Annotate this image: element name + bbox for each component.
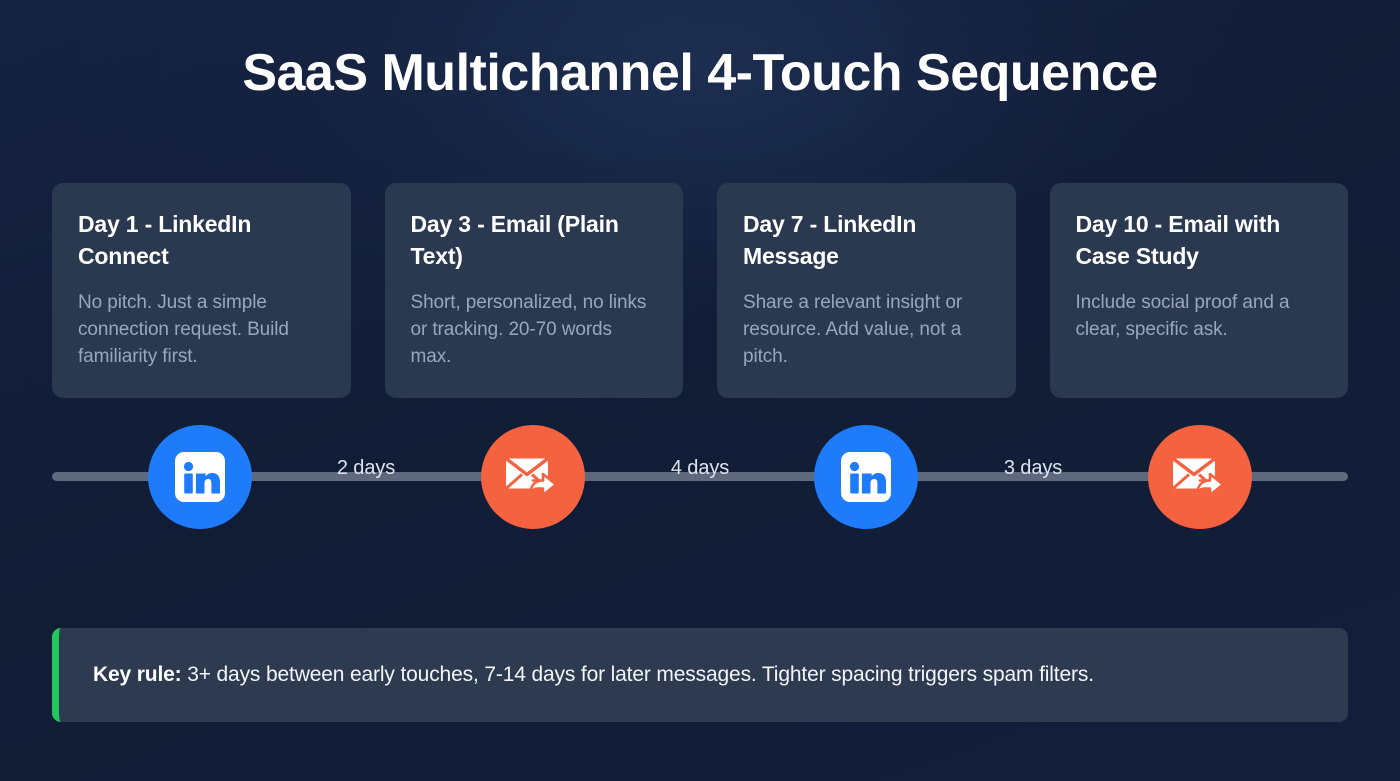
step-card-description: Include social proof and a clear, specif… [1076, 290, 1323, 344]
timeline: 2 days 4 days 3 days [0, 415, 1400, 540]
step-card-3: Day 7 - LinkedIn Message Share a relevan… [717, 183, 1016, 398]
infographic-stage: SaaS Multichannel 4-Touch Sequence Day 1… [0, 0, 1400, 781]
timeline-gap-label-3: 3 days [953, 457, 1113, 480]
timeline-node-email-1[interactable] [481, 425, 585, 529]
timeline-gap-label-2: 4 days [620, 457, 780, 480]
step-card-4: Day 10 - Email with Case Study Include s… [1050, 183, 1349, 398]
key-rule-banner: Key rule: 3+ days between early touches,… [52, 628, 1348, 722]
step-card-list: Day 1 - LinkedIn Connect No pitch. Just … [52, 183, 1348, 398]
step-card-description: No pitch. Just a simple connection reque… [78, 290, 325, 371]
timeline-node-linkedin-1[interactable] [148, 425, 252, 529]
step-card-description: Short, personalized, no links or trackin… [411, 290, 658, 371]
timeline-gap-label-1: 2 days [286, 457, 446, 480]
email-forward-icon [503, 452, 563, 502]
key-rule-body: 3+ days between early touches, 7-14 days… [182, 663, 1094, 686]
email-forward-icon [1170, 452, 1230, 502]
step-card-2: Day 3 - Email (Plain Text) Short, person… [385, 183, 684, 398]
linkedin-icon [172, 449, 228, 505]
step-card-description: Share a relevant insight or resource. Ad… [743, 290, 990, 371]
step-card-title: Day 3 - Email (Plain Text) [411, 209, 658, 273]
step-card-title: Day 1 - LinkedIn Connect [78, 209, 325, 273]
linkedin-icon [838, 449, 894, 505]
timeline-node-email-2[interactable] [1148, 425, 1252, 529]
step-card-title: Day 7 - LinkedIn Message [743, 209, 990, 273]
key-rule-text: Key rule: 3+ days between early touches,… [93, 663, 1094, 687]
key-rule-label: Key rule: [93, 663, 182, 686]
step-card-1: Day 1 - LinkedIn Connect No pitch. Just … [52, 183, 351, 398]
page-title: SaaS Multichannel 4-Touch Sequence [0, 44, 1400, 102]
step-card-title: Day 10 - Email with Case Study [1076, 209, 1323, 273]
timeline-node-linkedin-2[interactable] [814, 425, 918, 529]
